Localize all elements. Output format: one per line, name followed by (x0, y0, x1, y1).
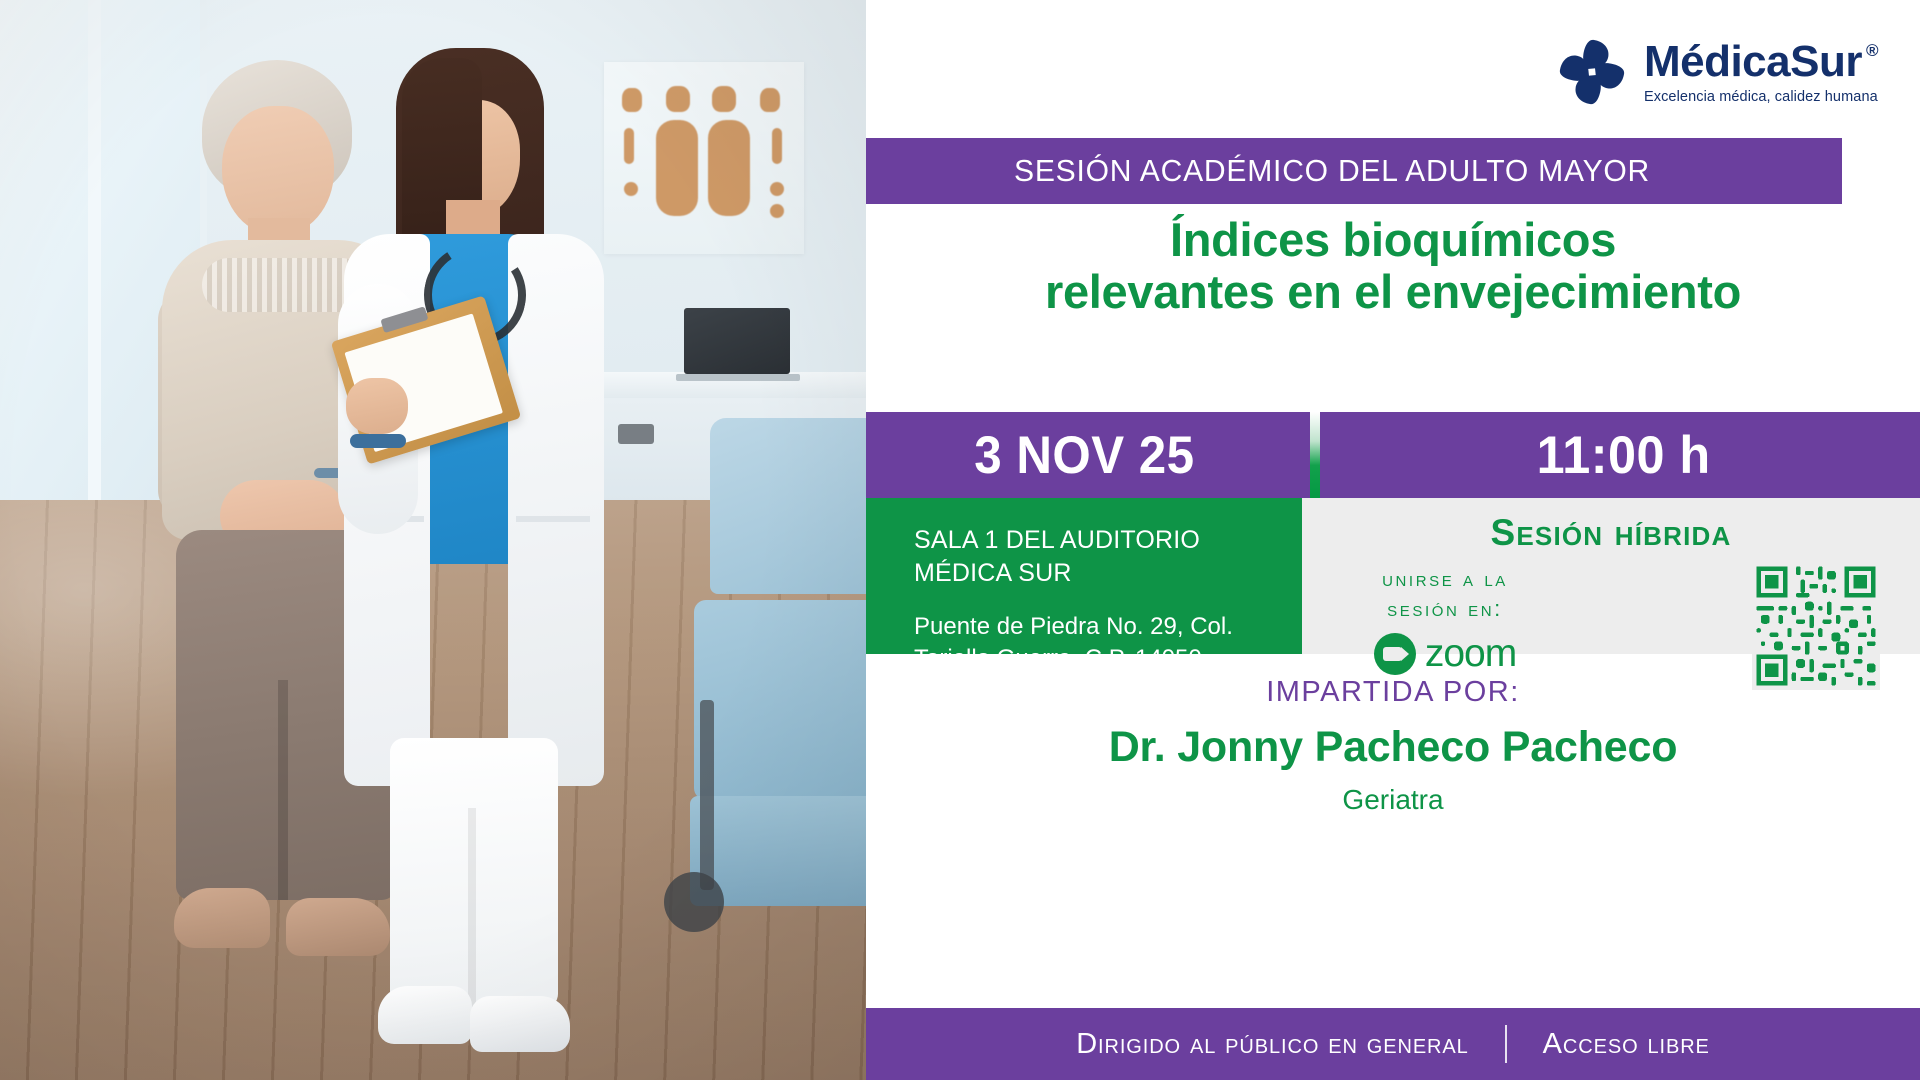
medicasur-pinwheel-icon (1556, 36, 1628, 108)
zoom-logo[interactable]: zoom (1340, 633, 1550, 675)
hybrid-title: Sesión híbrida (1302, 512, 1920, 554)
title-line-1: Índices bioquímicos (866, 214, 1920, 266)
session-eyebrow-text: SESIÓN ACADÉMICO DEL ADULTO MAYOR (1014, 153, 1650, 189)
event-time: 11:00 h (1328, 412, 1920, 498)
event-date: 3 NOV 25 (866, 412, 1302, 498)
brand-logo-text: MédicaSur ® Excelencia médica, calidez h… (1644, 40, 1878, 105)
hybrid-join-line-2: sesión en: (1340, 594, 1550, 624)
footer-audience: Dirigido al público en general (1076, 1028, 1468, 1061)
speaker-role: Geriatra (866, 784, 1920, 816)
page-title: Índices bioquímicos relevantes en el env… (866, 214, 1920, 318)
event-poster: MédicaSur ® Excelencia médica, calidez h… (0, 0, 1920, 1080)
venue-address-line-1: Puente de Piedra No. 29, Col. (914, 611, 1302, 643)
hybrid-join-label: unirse a la sesión en: (1340, 564, 1550, 625)
hybrid-join-group: unirse a la sesión en: zoom (1340, 564, 1550, 675)
footer-separator (1505, 1025, 1507, 1063)
venue-hybrid-row: SALA 1 DEL AUDITORIO MÉDICA SUR Puente d… (866, 498, 1920, 654)
venue-block: SALA 1 DEL AUDITORIO MÉDICA SUR Puente d… (866, 498, 1302, 654)
schedule-divider-wrap (1302, 412, 1328, 498)
registered-mark: ® (1866, 42, 1878, 59)
brand-tagline: Excelencia médica, calidez humana (1644, 90, 1878, 105)
info-panel: MédicaSur ® Excelencia médica, calidez h… (866, 0, 1920, 1080)
title-line-2: relevantes en el envejecimiento (866, 266, 1920, 318)
session-eyebrow-banner: SESIÓN ACADÉMICO DEL ADULTO MAYOR (866, 138, 1842, 204)
venue-hall: SALA 1 DEL AUDITORIO MÉDICA SUR (914, 524, 1302, 589)
hybrid-block: Sesión híbrida unirse a la sesión en: zo… (1302, 498, 1920, 654)
zoom-camera-lens (1401, 647, 1409, 661)
zoom-camera-body (1383, 647, 1402, 661)
event-date-text: 3 NOV 25 (974, 425, 1194, 486)
zoom-camera-icon (1374, 633, 1416, 675)
brand-name-text: MédicaSur (1644, 40, 1862, 84)
hybrid-join-line-1: unirse a la (1340, 564, 1550, 594)
brand-name: MédicaSur ® (1644, 40, 1878, 84)
schedule-bar: 3 NOV 25 11:00 h (866, 412, 1920, 498)
speaker-block: IMPARTIDA POR: Dr. Jonny Pacheco Pacheco… (866, 676, 1920, 816)
brand-logo: MédicaSur ® Excelencia médica, calidez h… (1556, 36, 1878, 108)
photo-vignette (0, 0, 866, 1080)
speaker-name: Dr. Jonny Pacheco Pacheco (866, 723, 1920, 772)
footer-access: Acceso libre (1543, 1028, 1710, 1061)
venue-hall-line-2: MÉDICA SUR (914, 557, 1302, 590)
zoom-wordmark: zoom (1425, 634, 1516, 673)
speaker-label: IMPARTIDA POR: (866, 676, 1920, 709)
footer-bar: Dirigido al público en general Acceso li… (866, 1008, 1920, 1080)
event-time-text: 11:00 h (1537, 425, 1711, 486)
venue-address-line-2: Toriello Guerra, C.P. 14050, (914, 643, 1302, 675)
qr-code[interactable] (1752, 562, 1880, 690)
schedule-divider (1310, 412, 1320, 498)
clinic-photo (0, 0, 866, 1080)
venue-hall-line-1: SALA 1 DEL AUDITORIO (914, 524, 1302, 557)
